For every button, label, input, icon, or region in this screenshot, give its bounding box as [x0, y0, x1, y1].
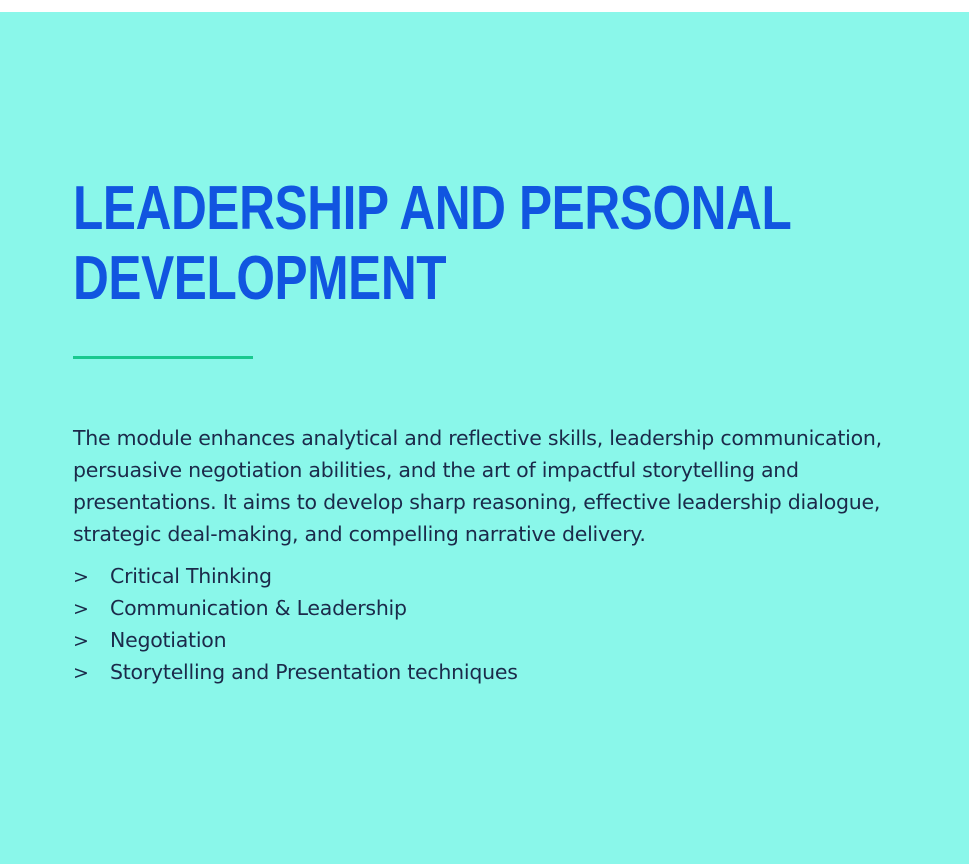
list-item: > Communication & Leadership	[73, 592, 933, 624]
list-item: > Storytelling and Presentation techniqu…	[73, 656, 933, 688]
slide-canvas: LEADERSHIP AND PERSONAL DEVELOPMENT The …	[0, 0, 969, 864]
page-title-line-1: LEADERSHIP AND PERSONAL	[73, 174, 761, 244]
top-white-margin	[0, 0, 969, 12]
chevron-right-icon: >	[73, 561, 110, 593]
list-item-label: Communication & Leadership	[110, 592, 407, 624]
list-item-label: Critical Thinking	[110, 560, 272, 592]
list-item: > Critical Thinking	[73, 560, 933, 592]
slide-background: LEADERSHIP AND PERSONAL DEVELOPMENT The …	[0, 12, 969, 864]
chevron-right-icon: >	[73, 593, 110, 625]
topics-list: > Critical Thinking > Communication & Le…	[73, 560, 933, 688]
page-title-line-2: DEVELOPMENT	[73, 244, 761, 314]
list-item: > Negotiation	[73, 624, 933, 656]
page-title: LEADERSHIP AND PERSONAL DEVELOPMENT	[73, 174, 933, 314]
title-divider-rule	[73, 356, 253, 359]
list-item-label: Storytelling and Presentation techniques	[110, 656, 518, 688]
chevron-right-icon: >	[73, 625, 110, 657]
module-description: The module enhances analytical and refle…	[73, 422, 941, 550]
slide-content: LEADERSHIP AND PERSONAL DEVELOPMENT The …	[73, 12, 939, 864]
chevron-right-icon: >	[73, 657, 110, 689]
list-item-label: Negotiation	[110, 624, 226, 656]
